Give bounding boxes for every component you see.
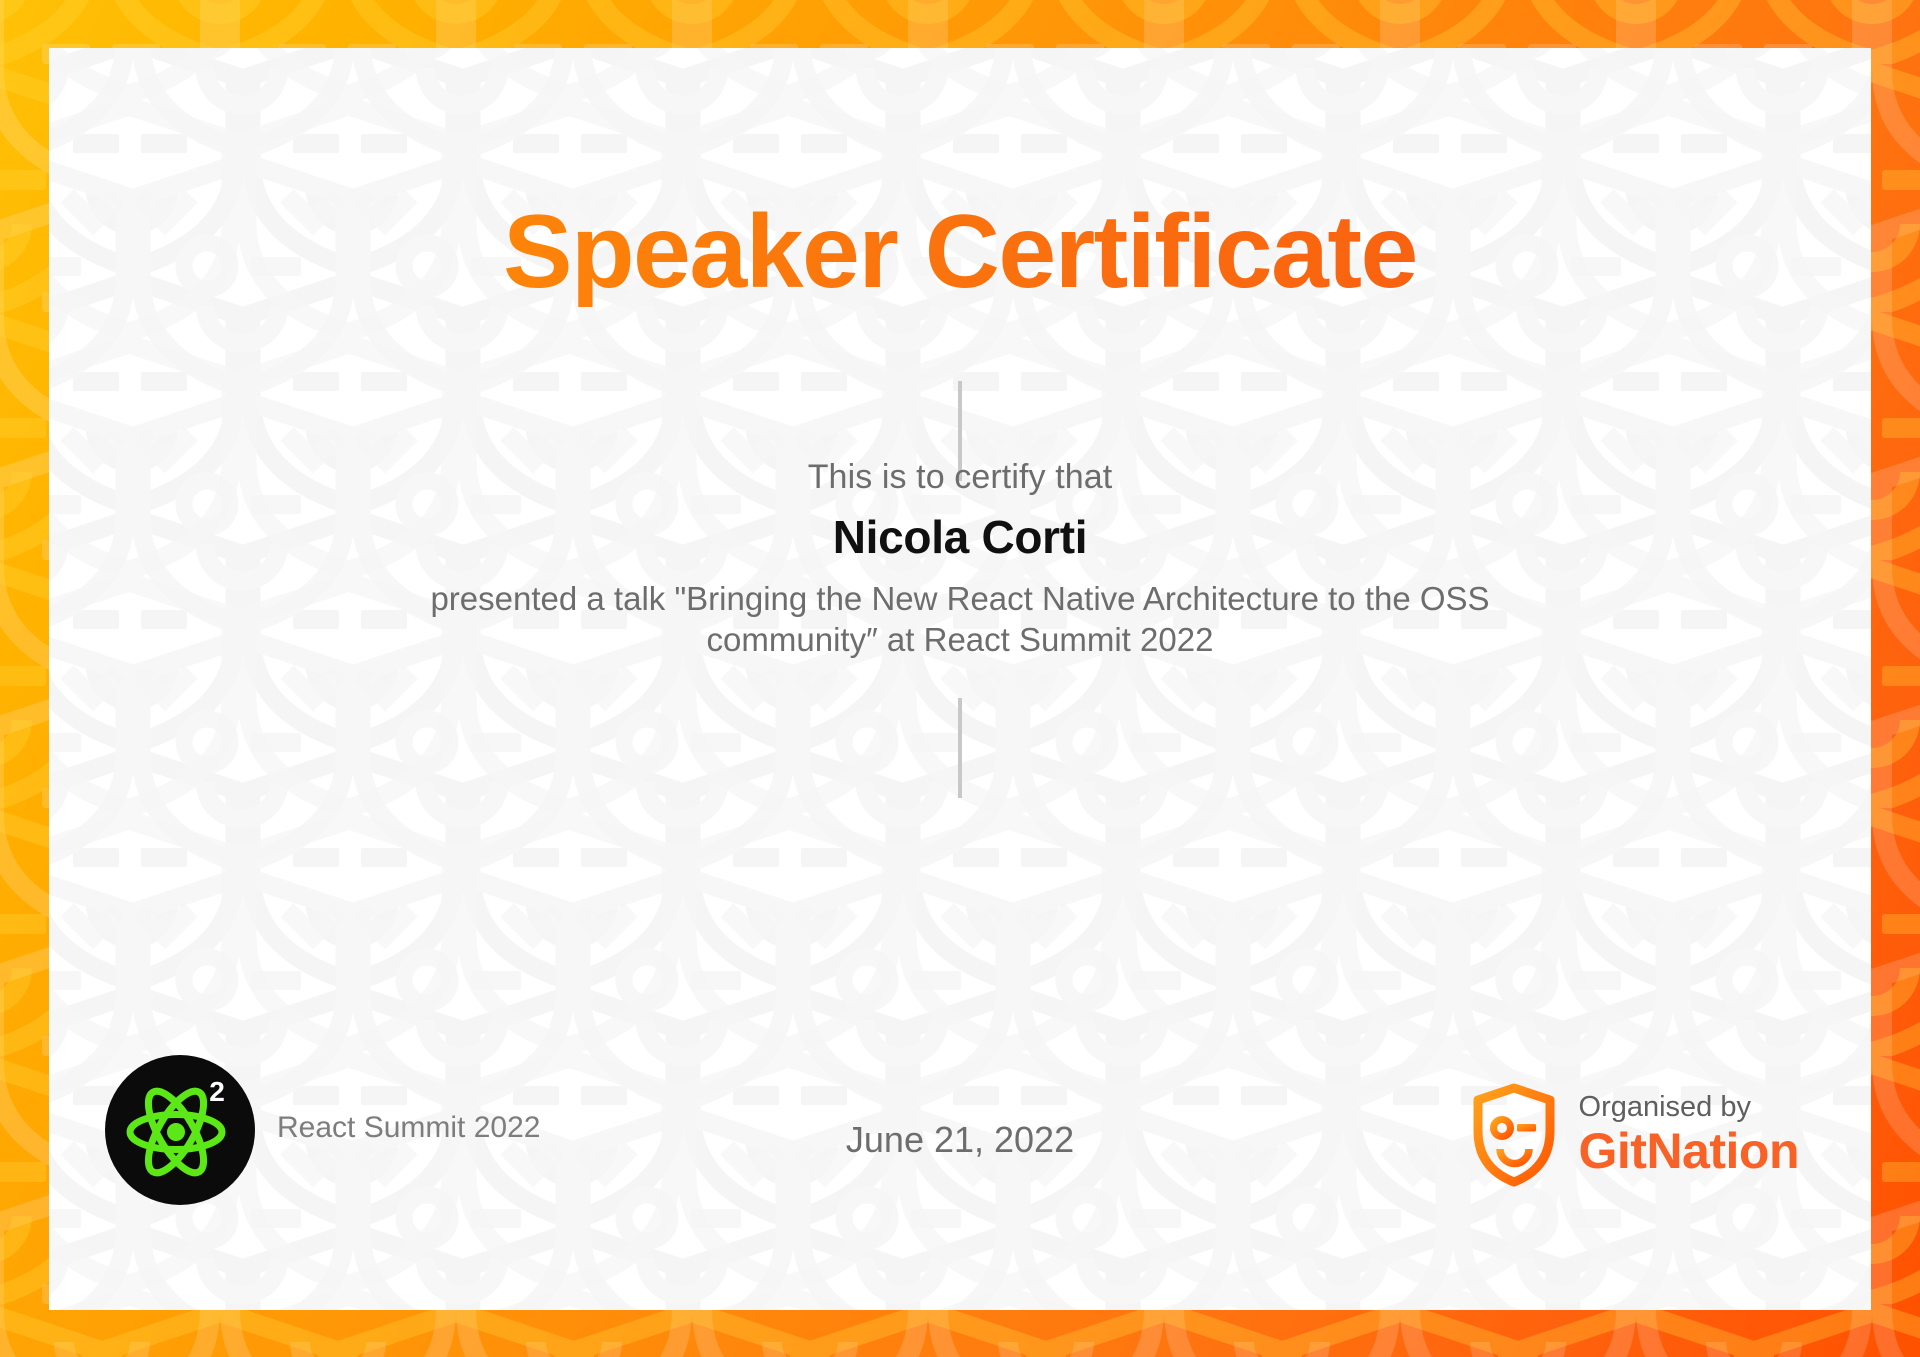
organised-by-label: Organised by [1579,1092,1799,1123]
react-summit-badge: 2 [105,1055,255,1205]
certificate-canvas: Speaker Certificate This is to certify t… [0,0,1920,1357]
certificate-footer: 2 React Summit 2022 June 21, 2022 [49,1035,1871,1205]
issue-date: June 21, 2022 [846,1119,1074,1161]
page-title: Speaker Certificate [49,198,1871,307]
divider-bottom [958,698,962,798]
certify-line: This is to certify that [49,458,1871,497]
react-atom-icon: 2 [105,1055,255,1205]
certificate-card: Speaker Certificate This is to certify t… [49,48,1871,1310]
react-badge-superscript: 2 [209,1076,225,1107]
gitnation-shield-icon [1471,1083,1557,1187]
talk-description: presented a talk "Bringing the New React… [380,578,1540,661]
recipient-name: Nicola Corti [49,510,1871,564]
organiser-text-block: Organised by GitNation [1579,1092,1799,1177]
event-label: React Summit 2022 [277,1111,540,1149]
organiser-brand: Organised by GitNation [1471,1083,1799,1187]
event-brand: 2 React Summit 2022 [105,1055,540,1205]
organisation-name: GitNation [1579,1124,1799,1178]
